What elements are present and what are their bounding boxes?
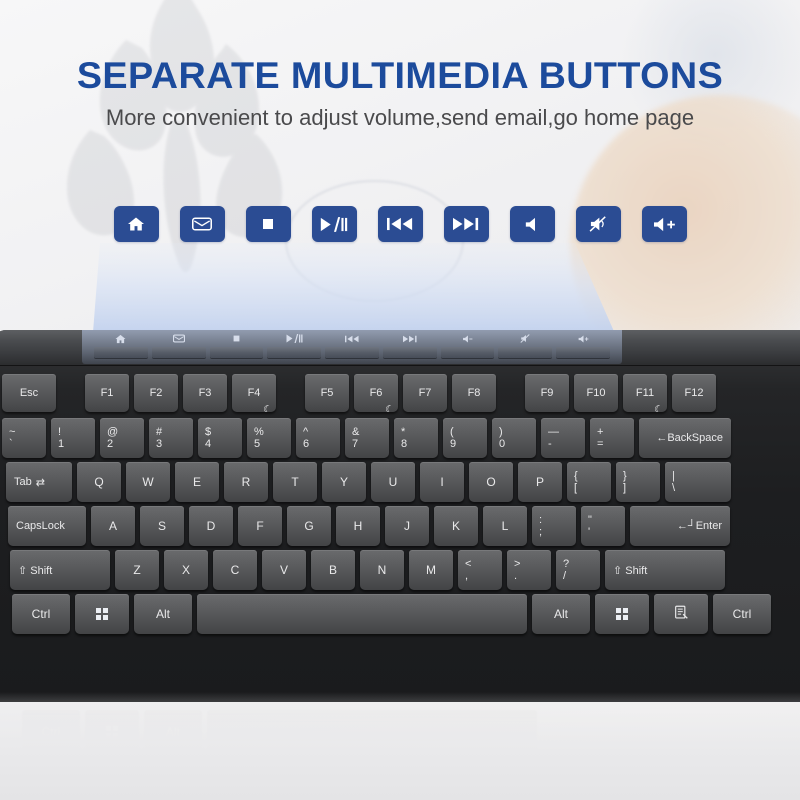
stop-icon	[262, 218, 274, 230]
key-label: 5	[254, 439, 260, 450]
key-label: 4	[205, 439, 211, 450]
key-slash[interactable]: ?/	[556, 550, 600, 590]
key-label: \	[672, 483, 675, 494]
play-pause-icon	[320, 217, 348, 232]
key-5[interactable]: %5	[247, 418, 291, 458]
key-3[interactable]: #3	[149, 418, 193, 458]
key-label: R	[242, 475, 251, 489]
key-f9[interactable]: F9	[525, 374, 569, 412]
key-p[interactable]: P	[518, 462, 562, 502]
key-semicolon[interactable]: :;	[532, 506, 576, 546]
key-shift-left[interactable]: ⇧ Shift	[10, 550, 110, 590]
menu-icon	[674, 605, 689, 623]
email-icon	[173, 332, 185, 345]
media-key-volume-down[interactable]	[441, 332, 495, 358]
key-label: F7	[419, 387, 432, 399]
play-pause-icon	[286, 332, 303, 345]
key-label: L	[502, 519, 509, 533]
key-label: F5	[321, 387, 334, 399]
key-e[interactable]: E	[175, 462, 219, 502]
previous-track-icon	[387, 217, 413, 231]
key-label: CapsLock	[16, 520, 65, 532]
key-label: 8	[401, 439, 407, 450]
key-label: 7	[352, 439, 358, 450]
previous-track-icon	[345, 332, 359, 345]
key-label: F8	[468, 387, 481, 399]
key-label: F4	[248, 387, 261, 399]
key-label-shift: @	[107, 427, 118, 438]
keyboard-media-strip	[92, 332, 612, 364]
key-label: 9	[450, 439, 456, 450]
media-keycap[interactable]	[441, 347, 495, 358]
media-key-email[interactable]	[152, 332, 206, 358]
key-q[interactable]: Q	[77, 462, 121, 502]
key-capslock[interactable]: CapsLock	[8, 506, 86, 546]
media-key-mute[interactable]	[498, 332, 552, 358]
media-key-next-track[interactable]	[383, 332, 437, 358]
key-j[interactable]: J	[385, 506, 429, 546]
key-label: T	[291, 475, 298, 489]
key-m[interactable]: M	[409, 550, 453, 590]
key-label: =	[597, 439, 603, 450]
media-key-previous-track[interactable]	[325, 332, 379, 358]
email-icon	[192, 217, 212, 231]
home-icon	[115, 332, 126, 345]
sleep-moon-icon: ☾	[385, 403, 395, 412]
volume-up-icon	[577, 332, 590, 345]
key-9[interactable]: (9	[443, 418, 487, 458]
key-bracket-right[interactable]: }]	[616, 462, 660, 502]
key-f5[interactable]: F5	[305, 374, 349, 412]
key-label: Esc	[20, 387, 38, 399]
key-ctrl-right[interactable]: Ctrl	[713, 594, 771, 634]
key-f1[interactable]: F1	[85, 374, 129, 412]
key-label: F3	[199, 387, 212, 399]
key-label: ,	[465, 571, 468, 582]
key-y[interactable]: Y	[322, 462, 366, 502]
product-marketing-image: SEPARATE MULTIMEDIA BUTTONS More conveni…	[0, 0, 800, 800]
key-label-shift: +	[597, 427, 603, 438]
multimedia-button-play-pause[interactable]	[312, 206, 357, 242]
multimedia-button-previous-track[interactable]	[378, 206, 423, 242]
volume-up-icon	[652, 217, 676, 232]
key-s[interactable]: S	[140, 506, 184, 546]
key-label-shift: :	[539, 515, 542, 526]
key-d[interactable]: D	[189, 506, 233, 546]
key-label-shift: )	[499, 427, 503, 438]
home-icon	[127, 216, 145, 232]
key-label: F11	[636, 387, 654, 399]
media-key-volume-up[interactable]	[556, 332, 610, 358]
key-label-shift: &	[352, 427, 359, 438]
key-f3[interactable]: F3	[183, 374, 227, 412]
key-label: ←BackSpace	[656, 432, 723, 444]
key-label: F9	[541, 387, 554, 399]
key-f12[interactable]: F12	[672, 374, 716, 412]
key-windows-right[interactable]	[595, 594, 649, 634]
next-track-icon	[453, 217, 479, 231]
media-keycap[interactable]	[210, 347, 264, 358]
key-label: .	[514, 571, 517, 582]
key-label: H	[354, 519, 363, 533]
key-label: ;	[539, 527, 542, 538]
key-o[interactable]: O	[469, 462, 513, 502]
key-label: S	[158, 519, 166, 533]
key-label: 0	[499, 439, 505, 450]
key-label: 3	[156, 439, 162, 450]
key-x[interactable]: X	[164, 550, 208, 590]
key-label: F2	[150, 387, 163, 399]
windows-icon	[616, 608, 629, 621]
keyboard-row-function: Esc F1 F2 F3 F4☾ F5 F6☾ F7 F8 F9 F10 F11…	[2, 374, 721, 412]
media-keycap[interactable]	[94, 347, 148, 358]
media-key-play-pause[interactable]	[267, 332, 321, 358]
key-f[interactable]: F	[238, 506, 282, 546]
background-leaf-silhouette	[30, 0, 330, 300]
key-u[interactable]: U	[371, 462, 415, 502]
key-label: I	[440, 475, 443, 489]
key-label: F12	[685, 387, 704, 399]
keyboard-row-shift: ⇧ Shift Z X C V B N M <, >. ?/ ⇧ Shift	[10, 550, 730, 590]
multimedia-button-next-track[interactable]	[444, 206, 489, 242]
key-alt-right[interactable]: Alt	[532, 594, 590, 634]
stop-icon	[233, 332, 240, 345]
multimedia-button-volume-up[interactable]	[642, 206, 687, 242]
key-label: U	[389, 475, 398, 489]
tab-arrows-icon: ⇄	[36, 476, 45, 489]
page-subtitle: More convenient to adjust volume,send em…	[0, 105, 800, 131]
key-label-shift: >	[514, 559, 520, 570]
keyboard-row-qwerty: Tab⇄ Q W E R T Y U I O P {[ }] |\	[6, 462, 736, 502]
key-label: P	[536, 475, 544, 489]
key-f8[interactable]: F8	[452, 374, 496, 412]
key-label: K	[452, 519, 460, 533]
key-comma[interactable]: <,	[458, 550, 502, 590]
key-4[interactable]: $4	[198, 418, 242, 458]
multimedia-button-volume-down[interactable]	[510, 206, 555, 242]
key-h[interactable]: H	[336, 506, 380, 546]
key-f6[interactable]: F6☾	[354, 374, 398, 412]
key-z[interactable]: Z	[115, 550, 159, 590]
key-label: C	[231, 563, 240, 577]
key-b[interactable]: B	[311, 550, 355, 590]
key-label: `	[9, 439, 13, 450]
key-f4[interactable]: F4☾	[232, 374, 276, 412]
multimedia-button-email[interactable]	[180, 206, 225, 242]
key-t[interactable]: T	[273, 462, 317, 502]
key-bracket-left[interactable]: {[	[567, 462, 611, 502]
key-f10[interactable]: F10	[574, 374, 618, 412]
key-label-shift: ~	[9, 427, 15, 438]
key-k[interactable]: K	[434, 506, 478, 546]
key-backslash[interactable]: |\	[665, 462, 731, 502]
media-keycap[interactable]	[267, 347, 321, 358]
sleep-moon-icon: ☾	[654, 403, 664, 412]
key-n[interactable]: N	[360, 550, 404, 590]
key-gap	[281, 374, 305, 412]
multimedia-button-row	[0, 205, 800, 243]
key-label-shift: |	[672, 471, 675, 482]
key-i[interactable]: I	[420, 462, 464, 502]
key-label: Q	[94, 475, 103, 489]
media-key-home[interactable]	[94, 332, 148, 358]
key-minus[interactable]: —-	[541, 418, 585, 458]
key-0[interactable]: )0	[492, 418, 536, 458]
key-label: Alt	[554, 607, 568, 621]
key-tilde[interactable]: ~`	[2, 418, 46, 458]
key-label: F1	[101, 387, 114, 399]
key-a[interactable]: A	[91, 506, 135, 546]
key-6[interactable]: ^6	[296, 418, 340, 458]
key-label: ⇧ Shift	[18, 564, 52, 577]
mute-icon	[520, 332, 531, 345]
key-label: D	[207, 519, 216, 533]
key-period[interactable]: >.	[507, 550, 551, 590]
media-keycap[interactable]	[325, 347, 379, 358]
key-windows-left[interactable]	[75, 594, 129, 634]
key-v[interactable]: V	[262, 550, 306, 590]
windows-icon	[96, 608, 109, 621]
key-1[interactable]: !1	[51, 418, 95, 458]
key-label: F6	[370, 387, 383, 399]
key-label-shift: (	[450, 427, 454, 438]
key-f7[interactable]: F7	[403, 374, 447, 412]
key-gap	[501, 374, 525, 412]
page-title: SEPARATE MULTIMEDIA BUTTONS	[0, 55, 800, 97]
key-label: 6	[303, 439, 309, 450]
key-label-shift: ?	[563, 559, 569, 570]
key-label-shift: $	[205, 427, 211, 438]
multimedia-button-stop[interactable]	[246, 206, 291, 242]
media-keycap[interactable]	[556, 347, 610, 358]
keyboard-row-home: CapsLock A S D F G H J K L :; "' ←┘Enter	[8, 506, 735, 546]
keyboard: Esc F1 F2 F3 F4☾ F5 F6☾ F7 F8 F9 F10 F11…	[0, 330, 800, 705]
key-g[interactable]: G	[287, 506, 331, 546]
key-label: F	[256, 519, 263, 533]
key-f2[interactable]: F2	[134, 374, 178, 412]
media-keycap[interactable]	[498, 347, 552, 358]
key-label: ]	[623, 483, 626, 494]
key-label-shift: #	[156, 427, 162, 438]
key-label-shift: —	[548, 427, 559, 438]
key-ctrl-left[interactable]: Ctrl	[12, 594, 70, 634]
key-w[interactable]: W	[126, 462, 170, 502]
multimedia-button-home[interactable]	[114, 206, 159, 242]
key-label-shift: %	[254, 427, 264, 438]
key-2[interactable]: @2	[100, 418, 144, 458]
key-label: O	[486, 475, 495, 489]
key-c[interactable]: C	[213, 550, 257, 590]
bottom-fade-overlay	[0, 692, 800, 800]
key-label: [	[574, 483, 577, 494]
keyboard-row-bottom: Ctrl Alt Alt	[12, 594, 776, 634]
key-label: V	[280, 563, 288, 577]
key-enter[interactable]: ←┘Enter	[630, 506, 730, 546]
key-menu[interactable]	[654, 594, 708, 634]
key-label-shift: !	[58, 427, 61, 438]
key-label: M	[426, 563, 436, 577]
key-equals[interactable]: +=	[590, 418, 634, 458]
key-label: ←┘Enter	[677, 520, 722, 532]
sleep-moon-icon: ☾	[263, 403, 273, 412]
key-label: 2	[107, 439, 113, 450]
key-label: Alt	[156, 607, 170, 621]
key-label: E	[193, 475, 201, 489]
key-label: Z	[133, 563, 140, 577]
key-gap	[61, 374, 85, 412]
key-label: Tab	[14, 476, 32, 488]
key-label: '	[588, 527, 590, 538]
key-label-shift: "	[588, 515, 592, 526]
keyboard-row-number: ~` !1 @2 #3 $4 %5 ^6 &7 *8 (9 )0 —- += ←…	[2, 418, 736, 458]
key-label: W	[142, 475, 153, 489]
key-label: G	[304, 519, 313, 533]
key-label: Ctrl	[32, 607, 51, 621]
key-label: A	[109, 519, 117, 533]
key-label: 1	[58, 439, 64, 450]
media-key-stop[interactable]	[210, 332, 264, 358]
next-track-icon	[403, 332, 417, 345]
key-label: B	[329, 563, 337, 577]
key-l[interactable]: L	[483, 506, 527, 546]
volume-down-icon	[524, 217, 541, 232]
key-spacebar[interactable]	[197, 594, 527, 634]
key-label: J	[404, 519, 410, 533]
key-label: Y	[340, 475, 348, 489]
mute-icon	[589, 216, 608, 232]
key-quote[interactable]: "'	[581, 506, 625, 546]
key-label: Ctrl	[733, 607, 752, 621]
key-label-shift: *	[401, 427, 405, 438]
key-esc[interactable]: Esc	[2, 374, 56, 412]
key-r[interactable]: R	[224, 462, 268, 502]
key-8[interactable]: *8	[394, 418, 438, 458]
key-label-shift: }	[623, 471, 627, 482]
key-label: X	[182, 563, 190, 577]
multimedia-button-mute[interactable]	[576, 206, 621, 242]
key-shift-right[interactable]: ⇧ Shift	[605, 550, 725, 590]
key-label-shift: {	[574, 471, 578, 482]
key-label: F10	[587, 387, 606, 399]
key-label: -	[548, 439, 552, 450]
key-label-shift: ^	[303, 427, 308, 438]
key-label: ⇧ Shift	[613, 564, 647, 577]
key-f11[interactable]: F11☾	[623, 374, 667, 412]
key-7[interactable]: &7	[345, 418, 389, 458]
media-keycap[interactable]	[383, 347, 437, 358]
key-alt-left[interactable]: Alt	[134, 594, 192, 634]
media-keycap[interactable]	[152, 347, 206, 358]
volume-down-icon	[461, 332, 474, 345]
key-backspace[interactable]: ←BackSpace	[639, 418, 731, 458]
key-tab[interactable]: Tab⇄	[6, 462, 72, 502]
key-label-shift: <	[465, 559, 471, 570]
key-label: N	[378, 563, 387, 577]
key-label: /	[563, 571, 566, 582]
